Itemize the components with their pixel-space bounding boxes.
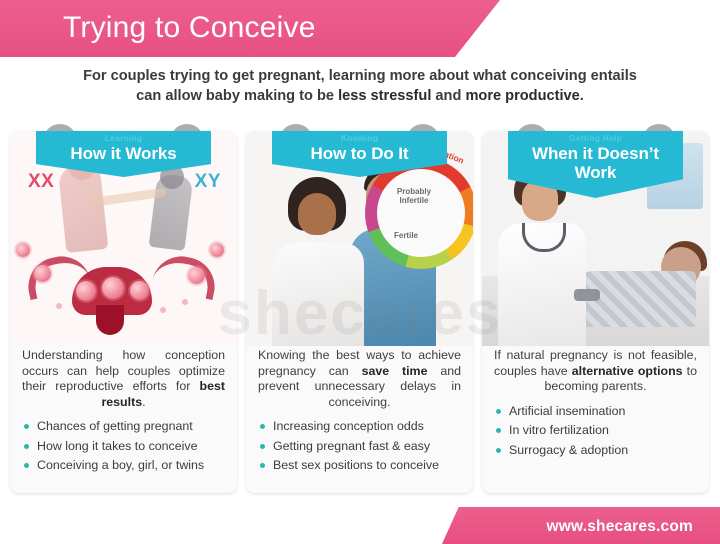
card-body: Understanding how conception occurs can … (22, 348, 225, 478)
footer-website-url[interactable]: www.shecares.com (547, 518, 694, 536)
figure-female-body (272, 243, 364, 346)
wheel-label-fertile: Fertile (381, 231, 431, 240)
list-item: Best sex positions to conceive (258, 458, 461, 472)
card-bullet-list: Artificial insemination In vitro fertili… (494, 404, 697, 457)
sperm-icon (160, 307, 166, 313)
intro-emphasis-2: more productive (465, 88, 579, 104)
card-eyebrow: Learning (36, 133, 211, 144)
card-title: How it Works (36, 144, 211, 163)
card-row: XX XY Learning How it Works Understandin… (10, 131, 710, 493)
fertility-wheel-center (377, 169, 465, 257)
card-title-line-2: Work (508, 163, 683, 182)
intro-line-1: For couples trying to get pregnant, lear… (83, 68, 637, 84)
figure-female-body (58, 163, 109, 253)
list-item: Getting pregnant fast & easy (258, 439, 461, 453)
card-description: If natural pregnancy is not feasible, co… (494, 348, 697, 395)
card-body: If natural pregnancy is not feasible, co… (494, 348, 697, 462)
card-eyebrow: Knowing (272, 133, 447, 144)
card-description: Understanding how conception occurs can … (22, 348, 225, 410)
list-item: Conceiving a boy, girl, or twins (22, 458, 225, 472)
chromosome-xx-label: XX (28, 171, 54, 193)
card-bullet-list: Increasing conception odds Getting pregn… (258, 419, 461, 472)
list-item: Surrogacy & adoption (494, 443, 697, 457)
list-item: Chances of getting pregnant (22, 419, 225, 433)
card-description: Knowing the best ways to achieve pregnan… (258, 348, 461, 410)
card-description-pre: Understanding how conception occurs can … (22, 348, 225, 393)
list-item: In vitro fertilization (494, 423, 697, 437)
intro-line-2-end: . (580, 88, 584, 104)
card-how-to-do-it[interactable]: Menstruation Probably Infertile Fertile … (246, 131, 473, 493)
sperm-icon (56, 303, 62, 309)
card-description-emphasis: alternative options (572, 364, 683, 378)
page-title: Trying to Conceive (63, 7, 316, 49)
card-eyebrow: Getting Help (508, 133, 683, 144)
chromosome-xy-label: XY (195, 171, 221, 193)
card-bullet-list: Chances of getting pregnant How long it … (22, 419, 225, 472)
wheel-label-probably-infertile: Probably Infertile (385, 187, 443, 205)
ovum-icon (34, 265, 51, 282)
list-item: Artificial insemination (494, 404, 697, 418)
intro-paragraph: For couples trying to get pregnant, lear… (14, 66, 706, 106)
card-how-it-works[interactable]: XX XY Learning How it Works Understandin… (10, 131, 237, 493)
ovum-icon (210, 243, 224, 257)
sperm-icon (182, 299, 188, 305)
ultrasound-probe-icon (574, 289, 600, 301)
figure-female-head (298, 193, 336, 235)
card-title: How to Do It (272, 144, 447, 163)
card-when-it-doesnt-work[interactable]: Getting Help When it Doesn’t Work If nat… (482, 131, 709, 493)
infographic-page: Trying to Conceive For couples trying to… (0, 0, 720, 544)
cervix-icon (96, 305, 124, 335)
intro-line-2-mid: and (431, 88, 465, 104)
intro-emphasis-1: less stressful (338, 88, 431, 104)
ovum-icon (16, 243, 30, 257)
card-body: Knowing the best ways to achieve pregnan… (258, 348, 461, 478)
ovum-icon (102, 277, 124, 299)
ovum-icon (130, 281, 149, 300)
list-item: Increasing conception odds (258, 419, 461, 433)
card-description-emphasis: save time (362, 364, 428, 378)
card-title-line-1: When it Doesn’t (508, 144, 683, 163)
ovum-icon (188, 267, 205, 284)
list-item: How long it takes to conceive (22, 439, 225, 453)
card-description-end: . (142, 395, 145, 409)
intro-line-2-pre: can allow baby making to be (136, 88, 338, 104)
ovum-icon (76, 281, 96, 301)
